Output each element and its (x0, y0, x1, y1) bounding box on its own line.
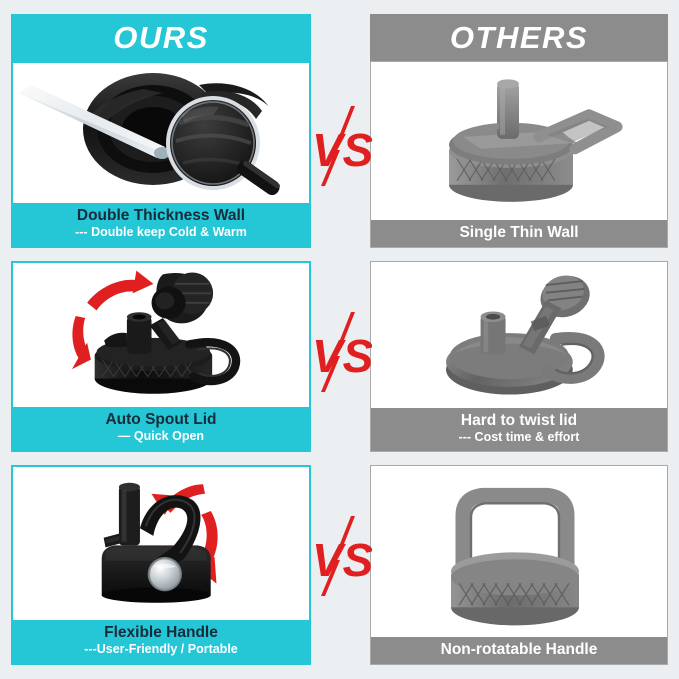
vs-badge-row2: VS (310, 310, 372, 394)
column-header-others: OTHERS (370, 14, 668, 61)
caption-subtitle: --- Double keep Cold & Warm (15, 225, 307, 241)
panel-ours-row2: Auto Spout Lid — Quick Open (11, 261, 311, 452)
svg-text:VS: VS (312, 330, 372, 382)
panel-others-row2: Hard to twist lid --- Cost time & effort (370, 261, 668, 452)
caption-others-row3: Non-rotatable Handle (371, 637, 667, 664)
panel-others-row1: Single Thin Wall (370, 61, 668, 248)
svg-text:VS: VS (312, 124, 372, 176)
column-header-ours-label: OURS (113, 20, 209, 56)
product-image-single-wall (371, 62, 667, 220)
caption-subtitle: ---User-Friendly / Portable (15, 642, 307, 658)
caption-others-row2: Hard to twist lid --- Cost time & effort (371, 408, 667, 451)
panel-others-row3: Non-rotatable Handle (370, 465, 668, 665)
caption-title: Non-rotatable Handle (373, 640, 665, 659)
svg-text:VS: VS (312, 534, 372, 586)
panel-ours-row3: Flexible Handle ---User-Friendly / Porta… (11, 465, 311, 665)
caption-others-row1: Single Thin Wall (371, 220, 667, 247)
caption-ours-row2: Auto Spout Lid — Quick Open (13, 407, 309, 450)
product-image-flexible-handle (13, 467, 309, 620)
caption-subtitle: — Quick Open (15, 429, 307, 445)
column-header-others-label: OTHERS (450, 20, 588, 56)
caption-ours-row3: Flexible Handle ---User-Friendly / Porta… (13, 620, 309, 663)
caption-title: Flexible Handle (15, 623, 307, 642)
caption-title: Double Thickness Wall (15, 206, 307, 225)
column-header-ours: OURS (11, 14, 311, 61)
caption-title: Hard to twist lid (373, 411, 665, 430)
caption-ours-row1: Double Thickness Wall --- Double keep Co… (13, 203, 309, 246)
caption-subtitle: --- Cost time & effort (373, 430, 665, 446)
product-image-double-wall (13, 63, 309, 203)
product-image-twist-lid (371, 262, 667, 408)
product-image-auto-spout-lid (13, 263, 309, 407)
panel-ours-row1: Double Thickness Wall --- Double keep Co… (11, 61, 311, 248)
vs-badge-row3: VS (310, 514, 372, 598)
product-image-fixed-handle (371, 466, 667, 637)
comparison-board: OURS OTHERS (0, 0, 679, 679)
caption-title: Auto Spout Lid (15, 410, 307, 429)
caption-title: Single Thin Wall (373, 223, 665, 242)
vs-badge-row1: VS (310, 104, 372, 188)
